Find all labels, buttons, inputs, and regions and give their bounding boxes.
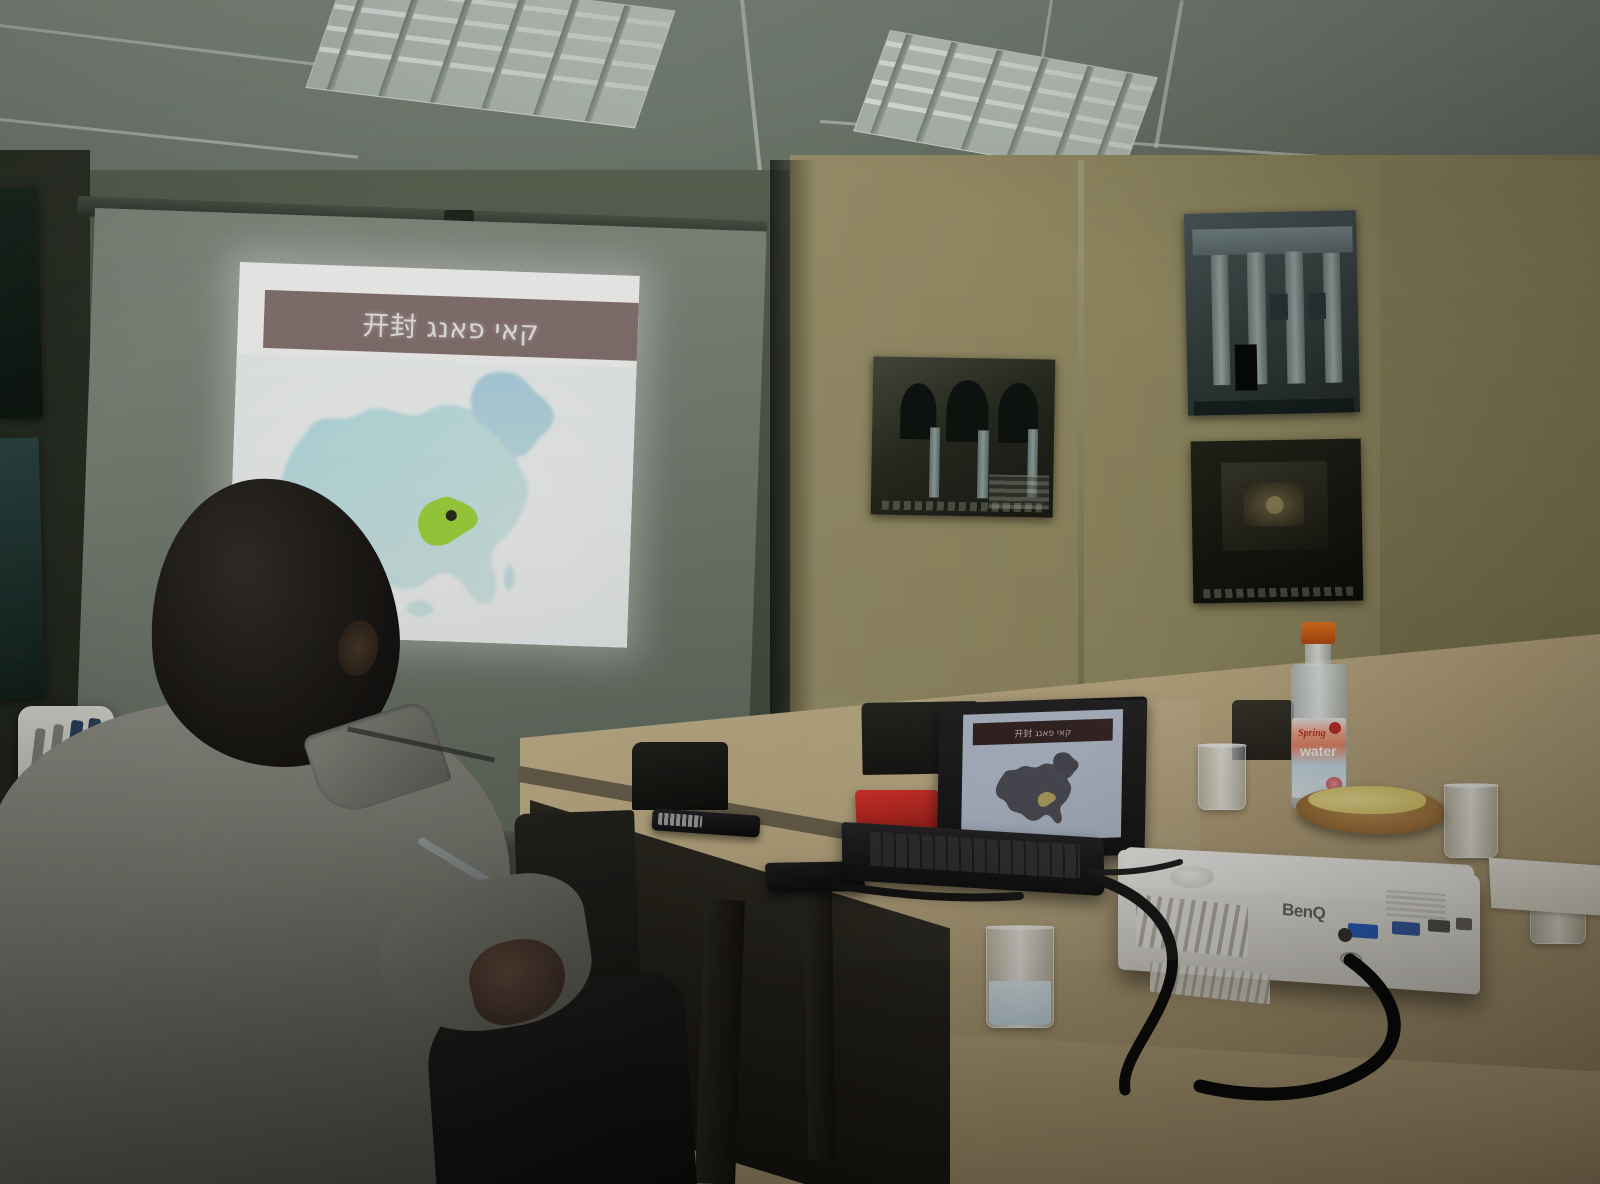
laptop-slide-title: קאי פאנג 开封 <box>1014 724 1071 739</box>
projector-lens <box>1170 866 1214 888</box>
bottle-label: Spring water <box>1292 718 1346 798</box>
projector-port-audio-in[interactable] <box>1338 928 1352 943</box>
photo-lower-right-dark <box>1191 439 1364 604</box>
laptop-slide-title-bar: קאי פאנג 开封 <box>973 718 1113 745</box>
photo-left-lower <box>0 437 45 698</box>
conference-room-photo: קאי פאנג 开封 <box>0 0 1600 1184</box>
chair-dark-left[interactable] <box>632 742 728 810</box>
laptop-china-map-svg <box>971 746 1112 839</box>
plastic-cup-foreground[interactable] <box>986 926 1054 1028</box>
projector-keypad[interactable] <box>1386 890 1446 920</box>
photo-left-upper <box>0 187 43 418</box>
projector-port-vga-out[interactable] <box>1392 921 1420 936</box>
laptop-keyboard[interactable] <box>870 832 1081 879</box>
photo-center-arcade <box>871 356 1056 517</box>
napkin-or-paper[interactable] <box>1489 858 1600 917</box>
slide-title: קאי פאנג 开封 <box>362 303 540 348</box>
cup-rim <box>1443 783 1499 788</box>
photo-upper-right-building <box>1184 210 1360 416</box>
laptop-slide-map <box>971 746 1112 839</box>
potato-chips <box>1308 786 1426 814</box>
projector-port-vga-in[interactable] <box>1348 923 1378 939</box>
photo-caption <box>882 501 1042 513</box>
plastic-cup-far[interactable] <box>1198 744 1246 810</box>
table-leg <box>804 880 837 1160</box>
bottle-cap[interactable] <box>1301 622 1335 644</box>
bottle-brand-text: Spring <box>1298 728 1326 739</box>
projector-port-s-video[interactable] <box>1428 919 1450 933</box>
water-bottle[interactable]: Spring water <box>1287 622 1351 810</box>
brand-dot-icon <box>1329 722 1341 734</box>
cup-rim <box>985 925 1055 930</box>
cup-rim <box>1197 743 1247 748</box>
photo-caption-hebrew <box>1203 587 1353 599</box>
laptop-screen: קאי פאנג 开封 <box>961 709 1123 843</box>
cup-water <box>989 981 1051 1025</box>
projector-port-hdmi[interactable] <box>1456 917 1472 930</box>
remote-buttons[interactable] <box>658 813 703 828</box>
bottle-product-text: water <box>1300 743 1337 759</box>
plastic-cup-right[interactable] <box>1444 784 1498 858</box>
bottle-neck <box>1305 642 1331 666</box>
